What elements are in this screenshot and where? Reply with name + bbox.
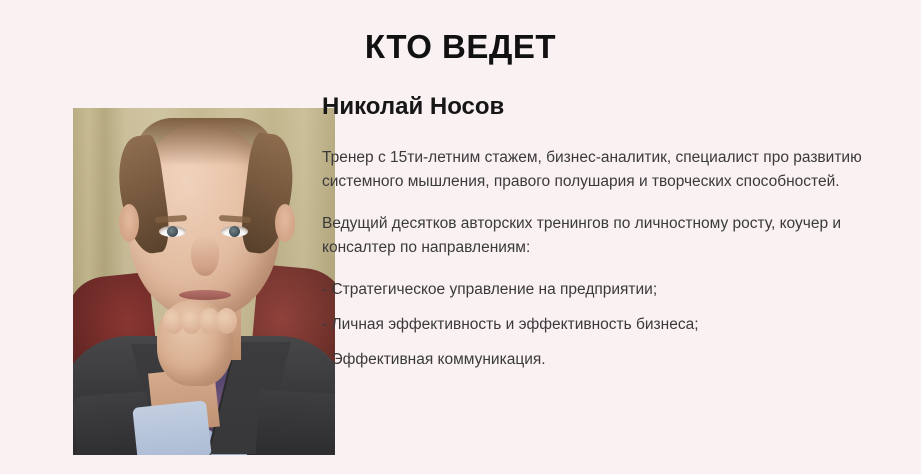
bio-paragraph-trainings: Ведущий десятков авторских тренингов по … (322, 212, 862, 260)
trainer-photo (73, 108, 335, 455)
page-title: КТО ВЕДЕТ (0, 28, 921, 66)
directions-list-item: - Стратегическое управление на предприят… (322, 278, 862, 302)
trainer-name: Николай Носов (322, 92, 862, 122)
knuckle-shape (216, 308, 237, 334)
shirt-cuff-shape (132, 400, 211, 455)
nose-shape (191, 236, 219, 276)
ear-left-shape (119, 204, 139, 242)
directions-list-item: - Эффективная коммуникация. (322, 348, 862, 372)
eye-right-shape (221, 226, 248, 237)
who-leads-section: КТО ВЕДЕТ Никола (0, 0, 921, 474)
iris-right-shape (229, 226, 240, 237)
directions-list: - Стратегическое управление на предприят… (322, 278, 862, 372)
mouth-shape (179, 290, 231, 300)
ear-right-shape (275, 204, 295, 242)
sleeve-right-shape (255, 390, 335, 455)
trainer-bio: Николай Носов Тренер с 15ти-летним стаже… (322, 92, 862, 383)
directions-list-item: - Личная эффективность и эффективность б… (322, 313, 862, 337)
iris-left-shape (167, 226, 178, 237)
eye-left-shape (159, 226, 186, 237)
bio-paragraph-experience: Тренер с 15ти-летним стажем, бизнес-анал… (322, 146, 862, 194)
